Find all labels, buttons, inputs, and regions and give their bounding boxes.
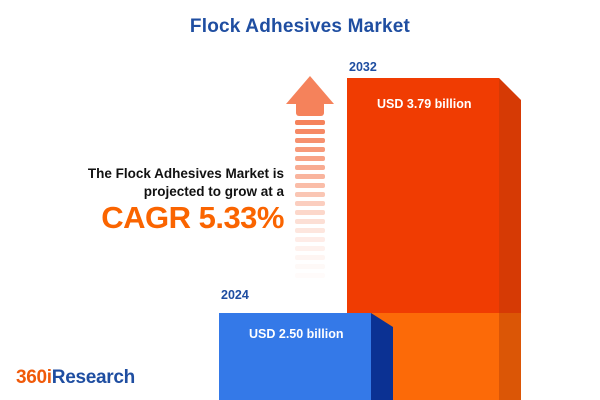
bar-2024-side-face: [371, 313, 393, 400]
arrow-stripe: [295, 174, 325, 179]
arrow-stripe: [295, 147, 325, 152]
bar-value-2032: USD 3.79 billion: [377, 97, 471, 111]
arrow-stripe: [295, 129, 325, 134]
market-infographic: Flock Adhesives Market The Flock Adhesiv…: [0, 0, 600, 400]
bar-value-2024: USD 2.50 billion: [249, 327, 343, 341]
bar-2032-side-face-lower: [499, 313, 521, 400]
arrow-neck-shape: [296, 103, 324, 116]
bar-label-year-2024: 2024: [221, 288, 249, 302]
arrow-stripe: [295, 228, 325, 233]
arrow-stripe: [295, 201, 325, 206]
arrow-stripes: [295, 120, 325, 282]
arrow-stripe: [295, 273, 325, 278]
growth-statement-line1: The Flock Adhesives Market is: [88, 166, 284, 181]
arrow-stripe: [295, 120, 325, 125]
arrow-stripe: [295, 165, 325, 170]
arrow-stripe: [295, 138, 325, 143]
arrow-stripe: [295, 219, 325, 224]
arrow-head-shape: [286, 76, 334, 104]
arrow-stripe: [295, 156, 325, 161]
bar-label-year-2032: 2032: [349, 60, 377, 74]
growth-arrow-icon: [286, 76, 334, 292]
arrow-stripe: [295, 237, 325, 242]
arrow-stripe: [295, 264, 325, 269]
arrow-stripe: [295, 246, 325, 251]
growth-statement: The Flock Adhesives Market is projected …: [44, 165, 284, 201]
arrow-stripe: [295, 255, 325, 260]
cagr-value: CAGR 5.33%: [44, 200, 284, 236]
arrow-stripe: [295, 210, 325, 215]
brand-logo-prefix: 360i: [16, 367, 52, 388]
page-title: Flock Adhesives Market: [0, 16, 600, 38]
arrow-stripe: [295, 183, 325, 188]
growth-statement-line2: projected to grow at a: [144, 184, 284, 199]
arrow-stripe: [295, 192, 325, 197]
brand-logo-suffix: Research: [52, 367, 135, 388]
brand-logo: 360iResearch: [16, 367, 135, 389]
